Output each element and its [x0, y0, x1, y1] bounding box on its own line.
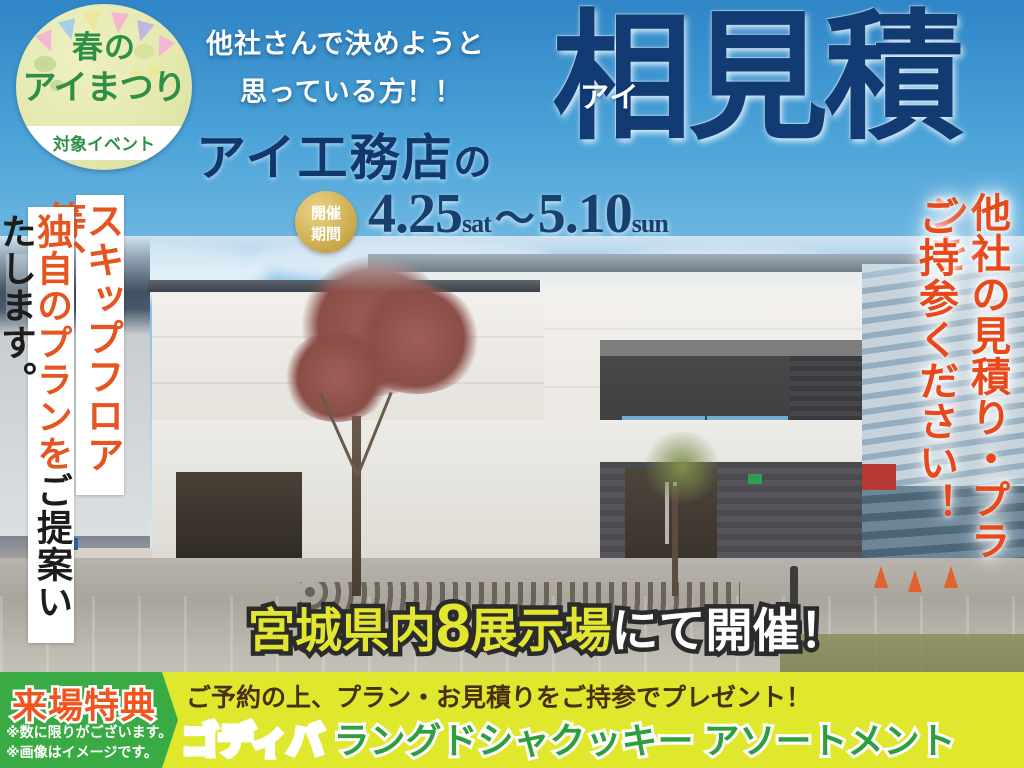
side-tree-foliage	[640, 432, 724, 502]
spring-festival-badge: 春の アイまつり 対象イベント	[16, 4, 192, 170]
event-period-badge: 開催 期間	[295, 191, 357, 253]
venue-banner: 宮城県内8展示場にて開催！	[0, 596, 1024, 660]
lead-line-1: 他社さんで決めようと	[206, 22, 485, 61]
feature-skip-floor: スキップフロア等、	[76, 195, 124, 495]
venue-banner-text: 宮城県内8展示場にて開催！	[248, 596, 846, 662]
date-end: 5.10	[538, 183, 632, 245]
feature-plan-orange: 独自のプランを	[32, 213, 73, 472]
period-label-line1: 開催	[295, 202, 357, 223]
benefit-note-1: ※数に限りがございます。	[6, 722, 172, 742]
gift-product-line: ゴディバ ラングドシャクッキー アソートメント	[182, 712, 956, 764]
poster-root: 春の アイまつり 対象イベント 他社さんで決めようと 思っている方！！ アイ工務…	[0, 0, 1024, 768]
photo-sky-blend	[0, 236, 1024, 292]
gift-brand: ゴディバ	[182, 720, 323, 761]
venue-count: 8	[436, 592, 470, 661]
right-red-sign	[862, 464, 896, 490]
gift-description: ご予約の上、プラン・お見積りをご持参でプレゼント！ ゴディバ ラングドシャクッキ…	[182, 672, 842, 768]
date-start-dow: sat	[462, 209, 491, 238]
company-name-line: アイ工務店の	[196, 118, 494, 190]
bring-estimate-line2: ご持参ください！	[914, 196, 956, 536]
event-date-range: 4.25sat～5.10sun	[368, 186, 668, 242]
garage-opening	[176, 472, 302, 560]
traffic-cone	[874, 566, 888, 588]
gift-lead-text: ご予約の上、プラン・お見積りをご持参でプレゼント！	[186, 678, 811, 714]
benefit-note-2: ※画像はイメージです。	[6, 742, 158, 762]
company-name: アイ工務店	[196, 130, 454, 186]
side-tree-trunk	[672, 486, 678, 596]
tree-foliage	[282, 332, 392, 422]
venue-word: 展示場	[470, 604, 611, 657]
badge-disc: 春の アイまつり 対象イベント	[16, 4, 192, 170]
lead-line-2: 思っている方！！	[240, 70, 463, 109]
badge-line2: アイまつり	[16, 60, 192, 109]
gift-product: ラングドシャクッキー アソートメント	[334, 720, 956, 761]
front-tree-trunk	[352, 416, 361, 596]
date-separator: ～	[491, 196, 538, 241]
period-label-line2: 期間	[295, 223, 357, 244]
badge-band-label: 対象イベント	[16, 130, 192, 155]
venue-suffix: にて開催！	[611, 604, 846, 657]
company-particle: の	[454, 142, 494, 184]
exit-light	[748, 474, 762, 484]
date-start: 4.25	[368, 183, 462, 245]
traffic-cone	[908, 570, 922, 592]
bottom-offer-bar: 来場特典 ※数に限りがございます。 ※画像はイメージです。 ご予約の上、プラン・…	[0, 672, 1024, 768]
venue-prefix: 宮城県内	[248, 604, 436, 657]
date-end-dow: sun	[632, 209, 668, 238]
visitor-benefit-panel: 来場特典 ※数に限りがございます。 ※画像はイメージです。	[0, 672, 178, 768]
feature-original-plan: 独自のプランをご提案いたします。	[28, 207, 74, 643]
title-furigana: アイ	[580, 74, 641, 116]
